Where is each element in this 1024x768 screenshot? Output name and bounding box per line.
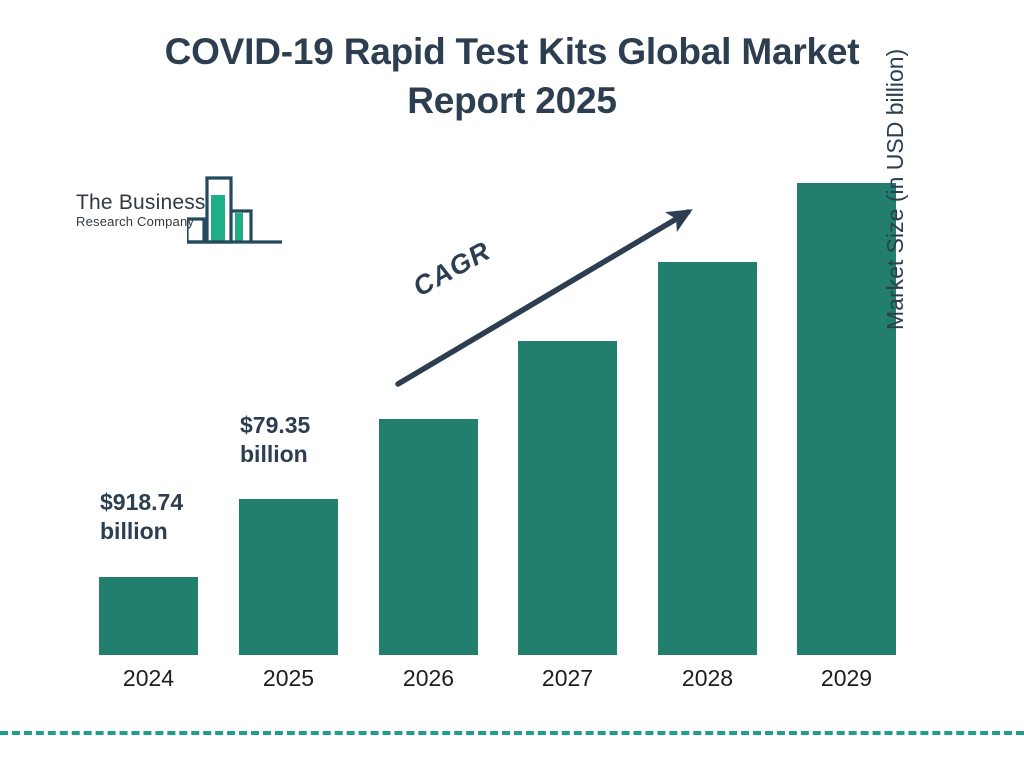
bar-value-2024: $918.74 billion [100,488,240,546]
bar-chart-plot: $918.74 billion $79.35 billion 2024 2025… [0,0,1024,768]
chart-page: COVID-19 Rapid Test Kits Global Market R… [0,0,1024,768]
bar-2026 [379,419,478,655]
bar-2027 [518,341,617,655]
y-axis-title: Market Size (in USD billion) [882,0,909,330]
x-tick-2025: 2025 [239,664,338,692]
x-tick-2029: 2029 [797,664,896,692]
footer-divider [0,731,1024,735]
x-tick-2028: 2028 [658,664,757,692]
cagr-label: CAGR [408,236,496,304]
bar-2025 [239,499,338,655]
bar-value-2025: $79.35 billion [240,411,380,469]
x-tick-2024: 2024 [99,664,198,692]
bar-2028 [658,262,757,655]
bar-2024 [99,577,198,655]
x-tick-2026: 2026 [379,664,478,692]
x-tick-2027: 2027 [518,664,617,692]
